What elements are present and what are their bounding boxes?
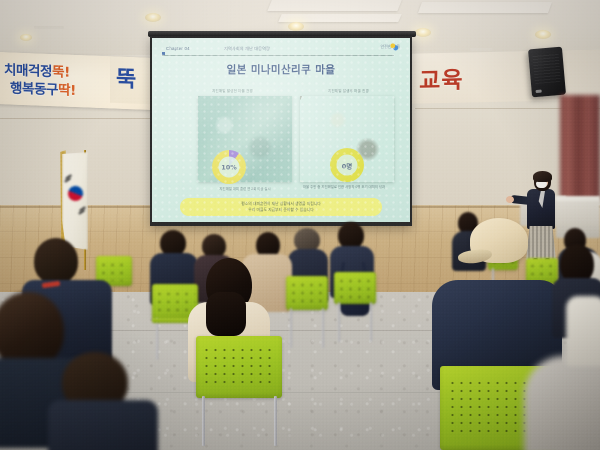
- banner-left-line2-orange: 딱!: [58, 82, 76, 99]
- slide-subheader: 지역사회의 재난 대응역량: [224, 46, 270, 52]
- chair-mid-2[interactable]: [286, 276, 328, 310]
- slide-chapter-label: Chapter 04: [166, 46, 190, 51]
- downlight-1: [145, 13, 161, 22]
- slide-photo-left-caption: 지진해일 발생전 마을 전경: [212, 89, 253, 94]
- slide-photo-right-caption: 지진해일 발생후 마을 전경: [328, 89, 369, 94]
- chair-front-1-leg-b: [274, 396, 277, 446]
- head: [338, 222, 364, 249]
- head: [0, 292, 64, 368]
- banner-partial-char: 뚝: [116, 61, 136, 94]
- ceiling-slot-a: [34, 26, 65, 29]
- donut-chart-left: 10%: [212, 150, 246, 184]
- slide-header-rule: [162, 55, 394, 56]
- chair-mid-2-leg-a: [290, 308, 292, 348]
- ceiling-slot-d: [470, 48, 492, 51]
- presenter-hand: [506, 196, 514, 203]
- presenter-skirt: [526, 226, 556, 260]
- projection-screen: Chapter 04 지역사회의 재난 대응역량 안전한 마을 일본 미나미산리…: [150, 36, 412, 226]
- chair-mid-1-leg-a: [156, 318, 158, 360]
- chair-front-1[interactable]: [196, 336, 282, 398]
- downlight-3: [415, 28, 431, 37]
- slide-note-line2: 우리 마을도 지금부터 준비할 수 있습니다: [241, 207, 320, 213]
- slide-logo-icon: [390, 43, 398, 51]
- ceiling-soffit-a: [267, 0, 402, 11]
- head: [34, 238, 78, 284]
- chair-mid-3-leg-b: [370, 302, 372, 342]
- podium-top-surface: [556, 196, 600, 201]
- chair-mid-3[interactable]: [334, 272, 376, 304]
- speaker-brand-badge: [536, 90, 542, 94]
- wall-panel-line-1: [0, 118, 160, 119]
- chair-perforations: [528, 262, 556, 279]
- downlight-2: [288, 22, 304, 31]
- chair-perforations: [155, 290, 195, 314]
- torso: [48, 400, 158, 450]
- banner-left-line2-blue: 행복동구: [10, 80, 58, 98]
- presentation-slide: Chapter 04 지역사회의 재난 대응역량 안전한 마을 일본 미나미산리…: [152, 38, 410, 222]
- chair-mid-3-leg-a: [338, 302, 340, 342]
- chair-perforations: [289, 281, 325, 303]
- wall-speaker: [528, 47, 566, 98]
- chair-mid-2-leg-b: [322, 308, 324, 348]
- hair-strands: [206, 292, 246, 336]
- ceiling-soffit-c: [278, 14, 402, 22]
- slide-right-subcaption: 마을 주민 중 지진해일로 인한 사망자 0명 조기 대피의 성과: [282, 185, 406, 190]
- slide-header: Chapter 04 지역사회의 재난 대응역량 안전한 마을: [162, 46, 400, 59]
- chair-perforations: [202, 346, 276, 387]
- chair-front-1-leg-a: [202, 396, 205, 446]
- stage-curtain: [560, 95, 600, 200]
- presenter-face-mask: [536, 181, 547, 188]
- audience-person-front-hair-strands: [206, 292, 246, 336]
- torso: [566, 296, 600, 366]
- photo-scene: 치매걱정뚝! 행복동구딱! 뚝 도 교육 Chapter 04 지역사회의 재난…: [0, 0, 600, 450]
- ceiling-soffit-b: [418, 2, 552, 13]
- presenter-hair: [533, 171, 552, 182]
- donut-right-hole: 0명: [337, 155, 358, 176]
- donut-right-value: 0명: [342, 160, 353, 170]
- chair-perforations: [337, 277, 373, 298]
- chair-perforations: [99, 261, 130, 281]
- downlight-5: [20, 34, 32, 41]
- downlight-4: [535, 30, 551, 39]
- slide-highlight-box: 평소의 대피훈련이 재난 상황에서 생명을 지킵니다 우리 마을도 지금부터 준…: [180, 198, 382, 216]
- donut-left-hole: 10%: [219, 157, 240, 178]
- torso: [524, 356, 600, 450]
- donut-chart-right: 0명: [330, 148, 364, 182]
- donut-left-value: 10%: [221, 163, 237, 171]
- slide-note-lines: 평소의 대피훈련이 재난 상황에서 생명을 지킵니다 우리 마을도 지금부터 준…: [241, 201, 320, 212]
- slide-title: 일본 미나미산리쿠 마을: [152, 62, 410, 77]
